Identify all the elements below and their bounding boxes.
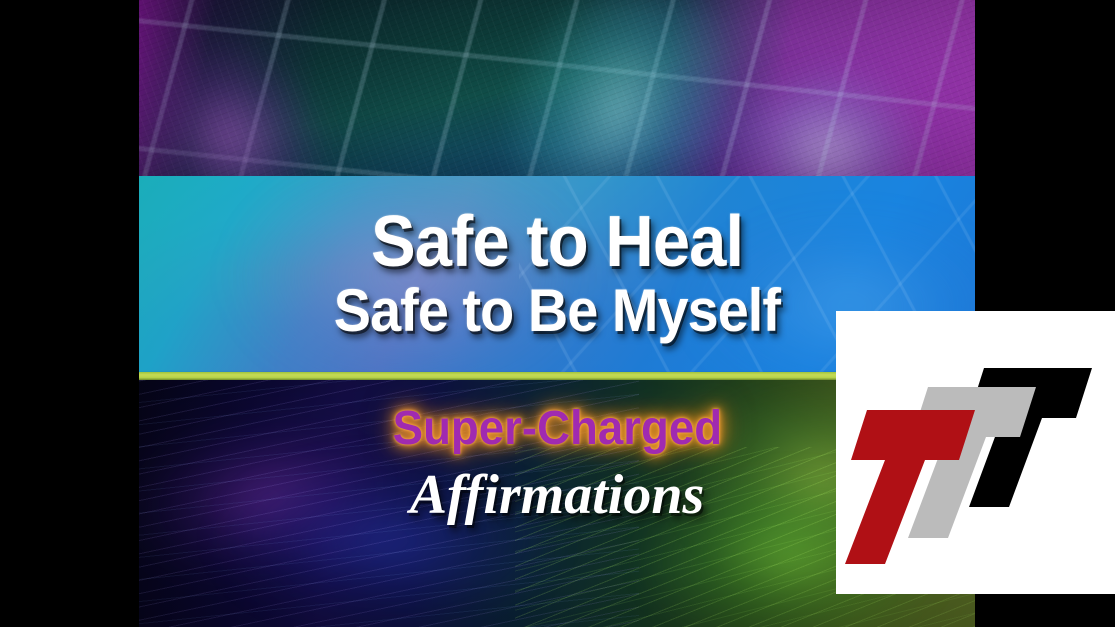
- title-line-1: Safe to Heal: [371, 207, 743, 278]
- subtitle-script: Affirmations: [410, 466, 705, 525]
- screenshot-canvas: Safe to Heal Safe to Be Myself Super-Cha…: [0, 0, 1115, 627]
- triple-t-logo-icon: [836, 311, 1115, 594]
- top-vignette-overlay: [139, 0, 975, 176]
- logo-card: [836, 311, 1115, 594]
- subtitle-accent: Super-Charged: [392, 404, 721, 454]
- top-abstract-background: [139, 0, 975, 176]
- title-line-2: Safe to Be Myself: [334, 281, 780, 341]
